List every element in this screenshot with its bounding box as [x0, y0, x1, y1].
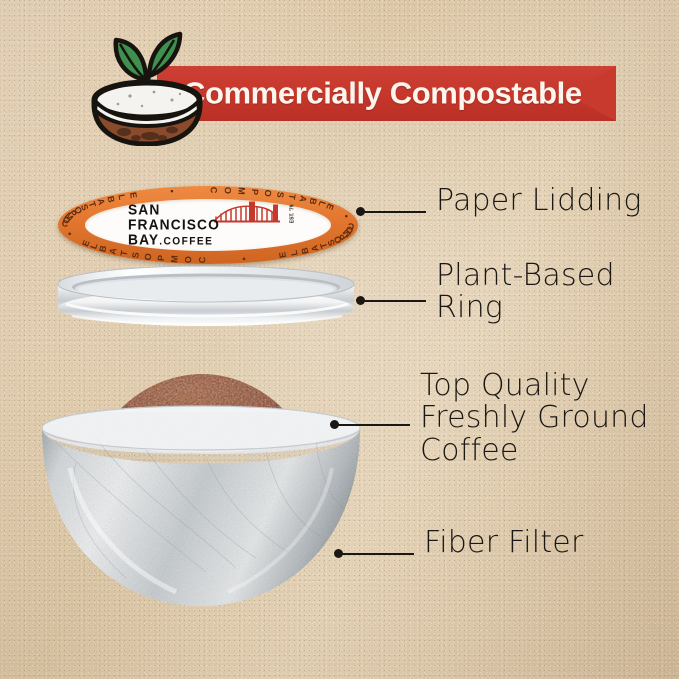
- brand-coffee-word: .COFFEE: [159, 236, 213, 248]
- callout-label-top-quality-coffee: Top Quality Freshly Ground Coffee: [420, 370, 649, 467]
- lid-ring-char: S: [275, 191, 286, 198]
- brand-line-bay: BAY.COFFEE: [128, 233, 275, 248]
- callout-label-plant-based-ring: Plant-Based Ring: [436, 260, 615, 325]
- lid-ring-char: •: [167, 189, 177, 193]
- leader-line: [342, 553, 414, 555]
- lid-ring-char: S: [130, 251, 141, 258]
- diagram-canvas: Commercially Compostable: [0, 0, 679, 679]
- lid-ring-char: L: [116, 193, 127, 200]
- paper-lidding-disc: COMPOSTABLE•COMPOSTABLE•COMPOSTABLE•COMP…: [58, 186, 358, 264]
- brand-established-text: EST. '79: [290, 205, 296, 224]
- fiber-filter-bowl: [36, 406, 366, 612]
- brand-line-san: SAN: [128, 203, 275, 218]
- lid-ring-char: P: [250, 189, 260, 196]
- lid-ring-char: T: [287, 193, 298, 200]
- brand-line-francisco: FRANCISCO: [128, 218, 275, 233]
- lid-ring-char: P: [156, 255, 166, 262]
- leader-line: [338, 424, 410, 426]
- banner-label: Commercially Compostable: [183, 75, 582, 111]
- leader-line: [364, 300, 426, 302]
- lid-ring-char: A: [309, 244, 320, 253]
- lid-ring-char: O: [143, 253, 154, 261]
- plant-based-ring: [56, 264, 356, 336]
- lid-ring-char: •: [239, 257, 249, 261]
- leader-line: [364, 211, 426, 213]
- fiber-filter-with-coffee: [36, 372, 366, 612]
- lid-ring-char: C: [209, 187, 219, 194]
- callout-label-paper-lidding: Paper Lidding: [436, 185, 642, 217]
- lid-ring-char: O: [263, 189, 274, 197]
- lid-ring-char: C: [197, 257, 207, 264]
- callout-label-fiber-filter: Fiber Filter: [424, 527, 583, 559]
- compostable-banner: Commercially Compostable: [157, 66, 616, 121]
- brand-bay-word: BAY: [128, 232, 159, 249]
- lid-ring-char: O: [223, 187, 233, 194]
- lid-ring-char: O: [183, 256, 193, 263]
- seedling-in-soil-pot-icon: [84, 18, 210, 146]
- brand-logo: SAN FRANCISCO BAY.COFFEE EST. '79: [128, 203, 288, 248]
- lid-ring-char: M: [169, 255, 179, 263]
- lid-ring-char: M: [236, 187, 246, 195]
